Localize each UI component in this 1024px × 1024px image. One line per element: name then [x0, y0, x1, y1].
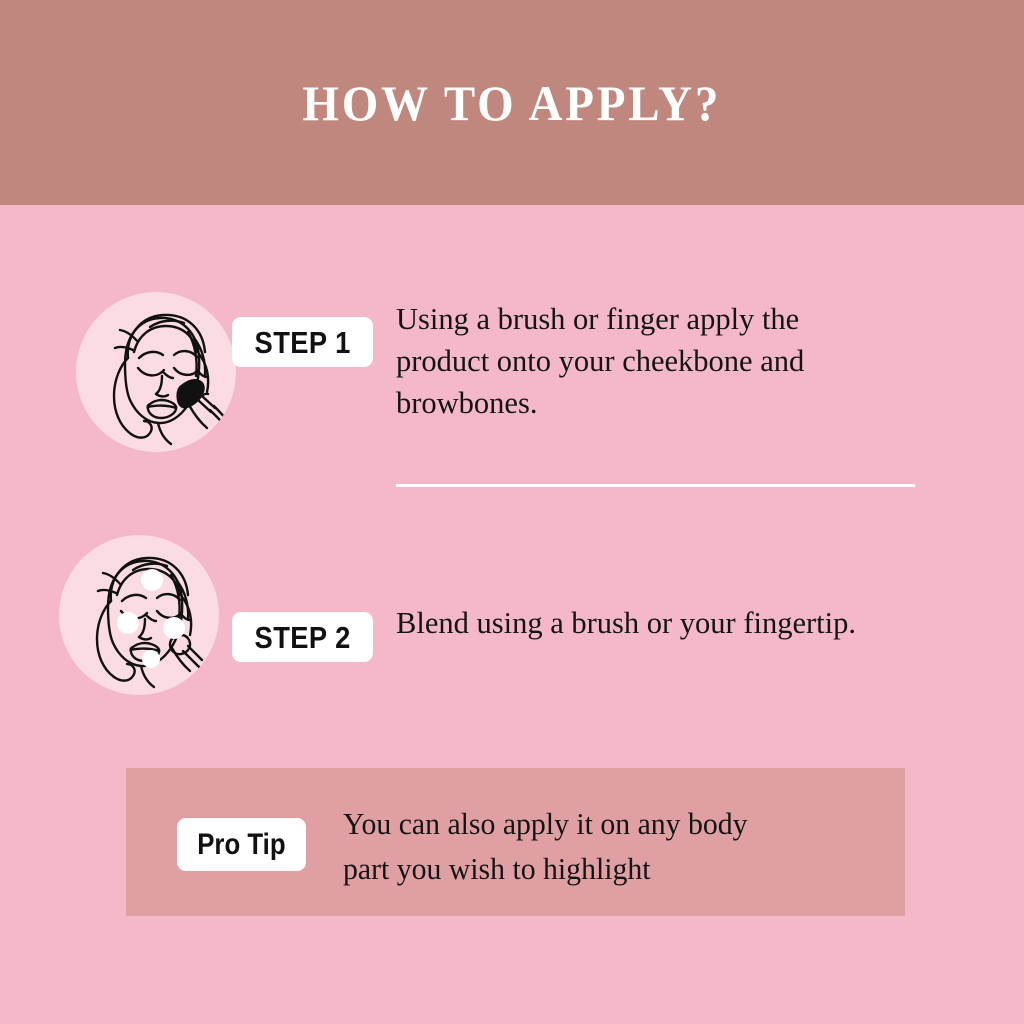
pro-tip-text: You can also apply it on any body part y…	[343, 801, 866, 891]
pro-tip-box: Pro Tip You can also apply it on any bod…	[126, 768, 905, 916]
step-2-text: Blend using a brush or your fingertip.	[396, 602, 896, 644]
step-2-text-line: fingertip.	[743, 606, 856, 640]
step-2-figure	[59, 535, 219, 695]
section-divider	[396, 484, 915, 487]
step-2-badge: STEP 2	[232, 612, 373, 662]
step-2-text-line: Blend using a brush or your	[396, 606, 736, 640]
pro-tip-badge: Pro Tip	[177, 818, 306, 871]
step-1-badge-label: STEP 1	[255, 327, 351, 358]
page-title: HOW TO APPLY?	[303, 78, 722, 128]
step-2-illustration-circle	[59, 535, 219, 695]
woman-applying-with-brush-icon	[76, 292, 236, 452]
pro-tip-badge-label: Pro Tip	[197, 830, 285, 860]
pro-tip-text-line: You can also apply it on any body	[343, 801, 866, 846]
step-1-badge: STEP 1	[232, 317, 373, 367]
step-1-illustration-circle	[76, 292, 236, 452]
header-band: HOW TO APPLY?	[0, 0, 1024, 205]
pro-tip-text-line: part you wish to highlight	[343, 846, 866, 891]
woman-blending-with-fingertip-icon	[59, 535, 219, 695]
steps-area: STEP 1 Using a brush or finger apply the…	[0, 205, 1024, 765]
step-2-badge-label: STEP 2	[255, 622, 351, 653]
step-1-text-line: Using a brush or finger apply	[396, 302, 754, 336]
step-1-text: Using a brush or finger apply the produc…	[396, 298, 896, 424]
step-1-figure	[76, 292, 236, 452]
